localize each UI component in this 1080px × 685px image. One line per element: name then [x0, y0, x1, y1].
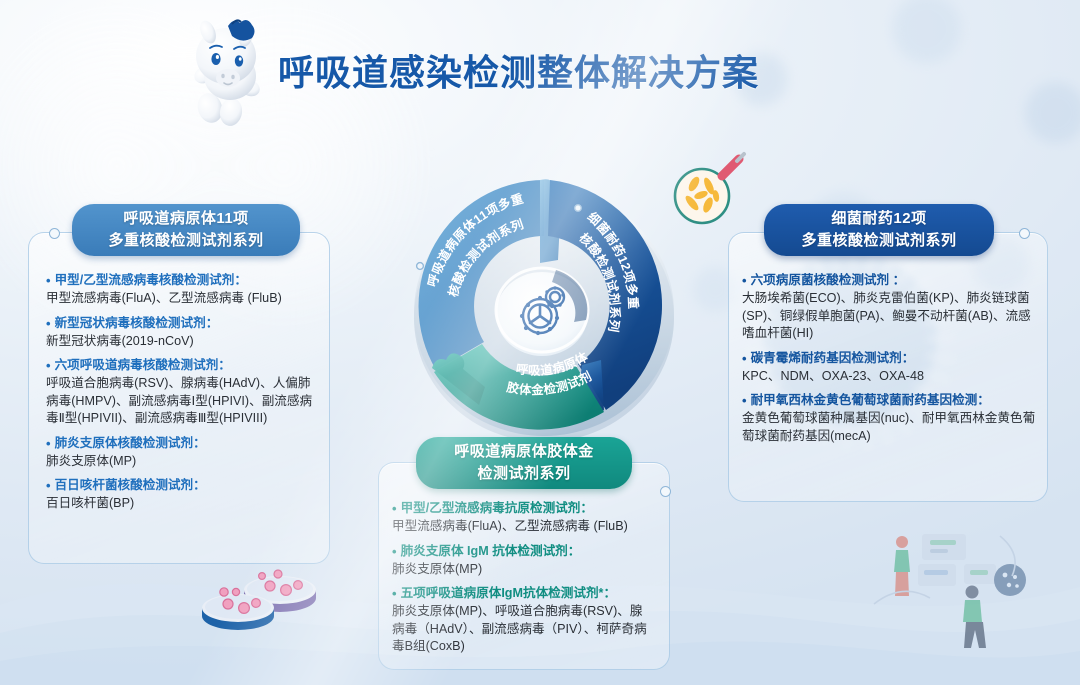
panel-header-bacterial-resistance: 细菌耐药12项 多重核酸检测试剂系列: [764, 204, 994, 256]
bullet-icon: •: [46, 272, 51, 289]
pill-left-line1: 呼吸道病原体11项: [123, 208, 248, 230]
list-item: •百日咳杆菌核酸检测试剂：百日咳杆菌(BP): [46, 477, 318, 513]
list-item-heading: •五项呼吸道病原体IgM抗体检测试剂*：: [392, 585, 654, 602]
bullet-icon: •: [392, 585, 397, 602]
panel-list-nucleic-acid: •甲型/乙型流感病毒核酸检测试剂：甲型流感病毒(FluA)、乙型流感病毒 (Fl…: [46, 272, 318, 520]
list-item-heading: •甲型/乙型流感病毒抗原检测试剂：: [392, 500, 654, 517]
list-item-heading: •碳青霉烯耐药基因检测试剂：: [742, 350, 1036, 367]
list-item-body: 肺炎支原体(MP): [392, 561, 654, 579]
page-title: 呼吸道感染检测整体解决方案: [278, 44, 759, 96]
donut-node-left: [417, 263, 424, 270]
list-item-body: KPC、NDM、OXA-23、OXA-48: [742, 368, 1036, 386]
list-item-body: 大肠埃希菌(ECO)、肺炎克雷伯菌(KP)、肺炎链球菌(SP)、铜绿假单胞菌(P…: [742, 290, 1036, 343]
list-item-heading-text: 肺炎支原体 IgM 抗体检测试剂：: [401, 543, 581, 560]
list-item: •新型冠状病毒核酸检测试剂：新型冠状病毒(2019-nCoV): [46, 315, 318, 351]
list-item-heading: •六项呼吸道病毒核酸检测试剂：: [46, 357, 318, 374]
list-item: •六项病原菌核酸检测试剂 ：大肠埃希菌(ECO)、肺炎克雷伯菌(KP)、肺炎链球…: [742, 272, 1036, 343]
list-item: •五项呼吸道病原体IgM抗体检测试剂*：肺炎支原体(MP)、呼吸道合胞病毒(RS…: [392, 585, 654, 656]
list-item-heading-text: 肺炎支原体核酸检测试剂：: [55, 435, 206, 452]
list-item-heading-text: 五项呼吸道病原体IgM抗体检测试剂*：: [401, 585, 617, 602]
list-item: •肺炎支原体 IgM 抗体检测试剂：肺炎支原体(MP): [392, 543, 654, 579]
list-item: •耐甲氧西林金黄色葡萄球菌耐药基因检测：金黄色葡萄球菌种属基因(nuc)、耐甲氧…: [742, 392, 1036, 445]
panel-header-nucleic-acid: 呼吸道病原体11项 多重核酸检测试剂系列: [72, 204, 300, 256]
petri-dishes-icon: [198, 556, 322, 632]
list-item-body: 肺炎支原体(MP): [46, 453, 318, 471]
pill-center-line2: 检测试剂系列: [477, 463, 570, 485]
list-item: •甲型/乙型流感病毒抗原检测试剂：甲型流感病毒(FluA)、乙型流感病毒 (Fl…: [392, 500, 654, 536]
bullet-icon: •: [46, 435, 51, 452]
bullet-icon: •: [46, 315, 51, 332]
list-item-heading-text: 甲型/乙型流感病毒抗原检测试剂：: [401, 500, 593, 517]
lab-people-illustration: [860, 520, 1036, 652]
horse-mascot-icon: [188, 12, 288, 130]
list-item: •甲型/乙型流感病毒核酸检测试剂：甲型流感病毒(FluA)、乙型流感病毒 (Fl…: [46, 272, 318, 308]
connector-node-center: [660, 486, 671, 497]
list-item-heading-text: 耐甲氧西林金黄色葡萄球菌耐药基因检测：: [751, 392, 990, 409]
list-item-heading-text: 甲型/乙型流感病毒核酸检测试剂：: [55, 272, 247, 289]
list-item-body: 百日咳杆菌(BP): [46, 495, 318, 513]
page-header: 呼吸道感染检测整体解决方案: [0, 0, 1080, 140]
pill-right-line1: 细菌耐药12项: [831, 208, 926, 230]
pill-right-line2: 多重核酸检测试剂系列: [801, 230, 956, 252]
infographic-stage: 呼吸道感染检测整体解决方案: [0, 0, 1080, 685]
solution-donut-diagram: 呼吸道病原体11项多重 核酸检测试剂系列 细菌耐药12项多重 核酸检测试剂系列 …: [398, 150, 690, 450]
panel-list-bacterial-resistance: •六项病原菌核酸检测试剂 ：大肠埃希菌(ECO)、肺炎克雷伯菌(KP)、肺炎链球…: [742, 272, 1036, 452]
list-item: •碳青霉烯耐药基因检测试剂：KPC、NDM、OXA-23、OXA-48: [742, 350, 1036, 386]
bullet-icon: •: [742, 392, 747, 409]
panel-header-colloidal-gold: 呼吸道病原体胶体金 检测试剂系列: [416, 437, 632, 489]
bullet-icon: •: [742, 272, 747, 289]
list-item: •肺炎支原体核酸检测试剂：肺炎支原体(MP): [46, 435, 318, 471]
list-item: •六项呼吸道病毒核酸检测试剂：呼吸道合胞病毒(RSV)、腺病毒(HAdV)、人偏…: [46, 357, 318, 428]
bullet-icon: •: [392, 543, 397, 560]
list-item-heading: •百日咳杆菌核酸检测试剂：: [46, 477, 318, 494]
list-item-body: 甲型流感病毒(FluA)、乙型流感病毒 (FluB): [392, 518, 654, 536]
list-item-body: 呼吸道合胞病毒(RSV)、腺病毒(HAdV)、人偏肺病毒(HMPV)、副流感病毒…: [46, 375, 318, 428]
list-item-body: 甲型流感病毒(FluA)、乙型流感病毒 (FluB): [46, 290, 318, 308]
list-item-heading: •耐甲氧西林金黄色葡萄球菌耐药基因检测：: [742, 392, 1036, 409]
list-item-heading-text: 六项病原菌核酸检测试剂 ：: [751, 272, 906, 289]
list-item-body: 新型冠状病毒(2019-nCoV): [46, 333, 318, 351]
list-item-body: 肺炎支原体(MP)、呼吸道合胞病毒(RSV)、腺病毒（HAdV）、副流感病毒（P…: [392, 603, 654, 656]
bullet-icon: •: [46, 477, 51, 494]
list-item-heading: •六项病原菌核酸检测试剂 ：: [742, 272, 1036, 289]
list-item-heading-text: 碳青霉烯耐药基因检测试剂：: [751, 350, 915, 367]
list-item-heading: •肺炎支原体 IgM 抗体检测试剂：: [392, 543, 654, 560]
list-item-heading: •肺炎支原体核酸检测试剂：: [46, 435, 318, 452]
pill-left-line2: 多重核酸检测试剂系列: [108, 230, 263, 252]
pill-center-line1: 呼吸道病原体胶体金: [454, 441, 594, 463]
bullet-icon: •: [46, 357, 51, 374]
list-item-body: 金黄色葡萄球菌种属基因(nuc)、耐甲氧西林金黄色葡萄球菌耐药基因(mecA): [742, 410, 1036, 445]
list-item-heading: •新型冠状病毒核酸检测试剂：: [46, 315, 318, 332]
list-item-heading-text: 新型冠状病毒核酸检测试剂：: [55, 315, 219, 332]
connector-node-left: [49, 228, 60, 239]
bullet-icon: •: [392, 500, 397, 517]
list-item-heading-text: 六项呼吸道病毒核酸检测试剂：: [55, 357, 231, 374]
list-item-heading-text: 百日咳杆菌核酸检测试剂：: [55, 477, 206, 494]
magnifier-bacteria-icon: [668, 148, 750, 230]
panel-list-colloidal-gold: •甲型/乙型流感病毒抗原检测试剂：甲型流感病毒(FluA)、乙型流感病毒 (Fl…: [392, 500, 654, 663]
connector-node-right: [1019, 228, 1030, 239]
donut-node-top: [575, 205, 581, 211]
list-item-heading: •甲型/乙型流感病毒核酸检测试剂：: [46, 272, 318, 289]
bullet-icon: •: [742, 350, 747, 367]
